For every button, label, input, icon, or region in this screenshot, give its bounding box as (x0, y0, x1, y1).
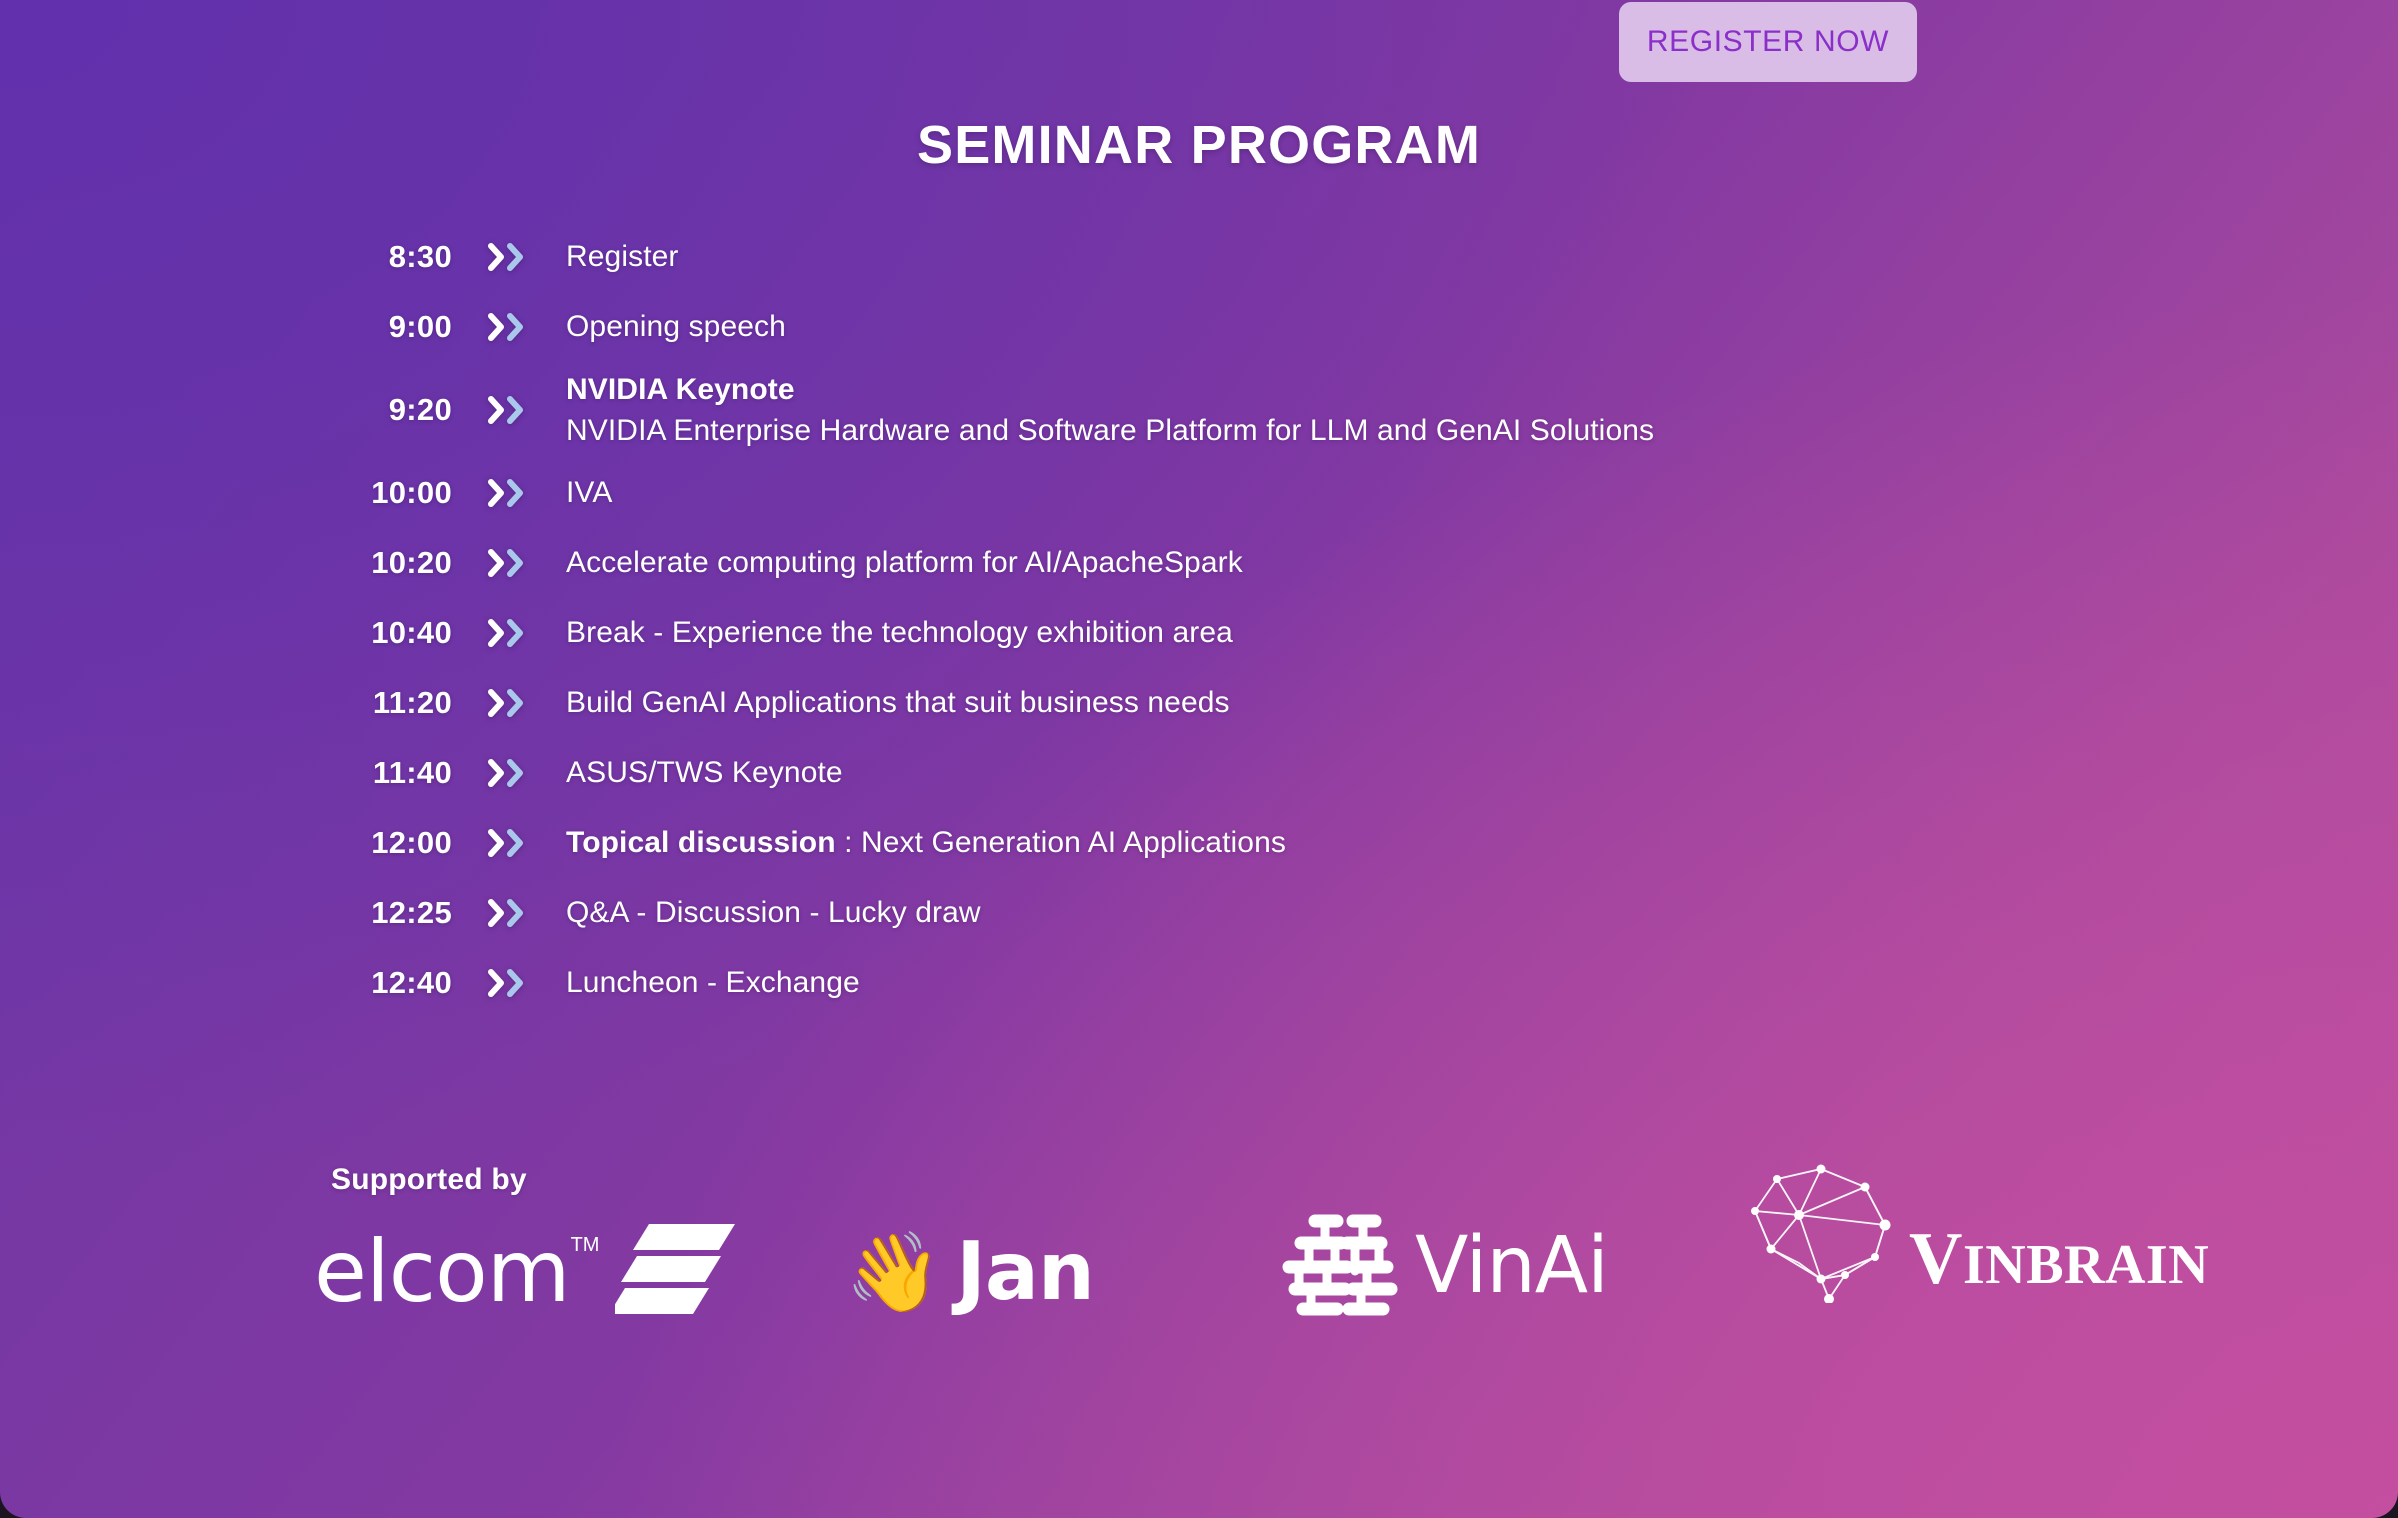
agenda-row: 10:00IVA (330, 458, 2130, 528)
agenda-row-title: NVIDIA Keynote (566, 373, 795, 406)
chevron-right-icon (488, 969, 505, 997)
agenda-row-chevrons (468, 619, 544, 647)
chevron-right-icon (488, 396, 505, 424)
agenda-row-title: Topical discussion (566, 826, 836, 859)
agenda-row-text: Register (566, 236, 679, 277)
agenda-row: 12:40Luncheon - Exchange (330, 948, 2130, 1018)
agenda-row-time: 8:30 (330, 239, 452, 275)
elcom-wordmark-text: elcom (314, 1222, 569, 1322)
sponsor-logo-elcom: elcom TM (314, 1212, 735, 1332)
agenda-row: 10:20Accelerate computing platform for A… (330, 528, 2130, 598)
sponsor-logo-jan: 👋 Jan (845, 1212, 1094, 1332)
agenda-row-description: ASUS/TWS Keynote (566, 756, 843, 789)
chevron-right-icon (488, 759, 505, 787)
seminar-program-slide: REGISTER NOW SEMINAR PROGRAM 8:30Registe… (0, 0, 2398, 1518)
agenda-row-text: Q&A - Discussion - Lucky draw (566, 892, 981, 933)
agenda-row-description: Q&A - Discussion - Lucky draw (566, 896, 981, 929)
agenda-row-chevrons (468, 396, 544, 424)
agenda-row-text: Opening speech (566, 306, 786, 347)
agenda-row: 8:30Register (330, 222, 2130, 292)
vinbrain-wordmark-cap: V (1909, 1218, 1963, 1300)
agenda-row-text: NVIDIA KeynoteNVIDIA Enterprise Hardware… (566, 369, 1654, 452)
agenda-row: 9:00Opening speech (330, 292, 2130, 362)
agenda-row-chevrons (468, 759, 544, 787)
agenda-row: 11:20Build GenAI Applications that suit … (330, 668, 2130, 738)
agenda-row-time: 10:40 (330, 615, 452, 651)
agenda-row-description: Break - Experience the technology exhibi… (566, 616, 1233, 649)
chevron-right-icon (507, 829, 524, 857)
agenda-row-time: 12:40 (330, 965, 452, 1001)
polygonal-brain-icon (1725, 1153, 1925, 1308)
chevron-right-icon (507, 689, 524, 717)
agenda-list: 8:30Register9:00Opening speech9:20NVIDIA… (330, 222, 2130, 1018)
jan-wordmark: Jan (956, 1232, 1094, 1312)
register-now-button[interactable]: REGISTER NOW (1619, 2, 1917, 82)
agenda-row-text: Topical discussion : Next Generation AI … (566, 822, 1286, 863)
chevron-right-icon (488, 479, 505, 507)
vinai-wordmark: VinAi (1415, 1227, 1608, 1305)
agenda-row-time: 9:00 (330, 309, 452, 345)
agenda-row-text: Luncheon - Exchange (566, 962, 860, 1003)
agenda-row-time: 9:20 (330, 392, 452, 428)
chevron-right-icon (507, 549, 524, 577)
elcom-trademark-symbol: TM (571, 1235, 600, 1255)
agenda-row-chevrons (468, 829, 544, 857)
agenda-row-chevrons (468, 689, 544, 717)
waving-hand-icon: 👋 (845, 1233, 942, 1311)
agenda-row-description: Accelerate computing platform for AI/Apa… (566, 546, 1243, 579)
chevron-right-icon (488, 313, 505, 341)
agenda-row-description: NVIDIA Enterprise Hardware and Software … (566, 414, 1654, 447)
agenda-row-description: : Next Generation AI Applications (836, 826, 1286, 859)
agenda-row-text: IVA (566, 472, 612, 513)
page-title: SEMINAR PROGRAM (0, 114, 2398, 176)
chevron-right-icon (507, 759, 524, 787)
agenda-row-description: Build GenAI Applications that suit busin… (566, 686, 1230, 719)
agenda-row-chevrons (468, 479, 544, 507)
chevron-right-icon (507, 313, 524, 341)
supported-by-label: Supported by (331, 1163, 527, 1197)
agenda-row-time: 12:25 (330, 895, 452, 931)
sponsor-logo-vinai: VinAi (1275, 1206, 1608, 1326)
chevron-right-icon (488, 549, 505, 577)
agenda-row: 9:20NVIDIA KeynoteNVIDIA Enterprise Hard… (330, 362, 2130, 458)
agenda-row-text: Build GenAI Applications that suit busin… (566, 682, 1230, 723)
sponsor-logo-vinbrain: VINBRAIN (1725, 1188, 2209, 1308)
agenda-row-chevrons (468, 969, 544, 997)
agenda-row-time: 12:00 (330, 825, 452, 861)
chevron-right-icon (507, 969, 524, 997)
vinbrain-wordmark: VINBRAIN (1909, 1222, 2209, 1296)
chevron-right-icon (488, 829, 505, 857)
elcom-e-mark-icon (615, 1222, 735, 1323)
chevron-right-icon (507, 243, 524, 271)
agenda-row-description: Register (566, 240, 679, 273)
chevron-right-icon (488, 243, 505, 271)
agenda-row-time: 10:00 (330, 475, 452, 511)
agenda-row: 11:40ASUS/TWS Keynote (330, 738, 2130, 808)
agenda-row-description: Luncheon - Exchange (566, 966, 860, 999)
chevron-right-icon (507, 899, 524, 927)
chevron-right-icon (488, 619, 505, 647)
chevron-right-icon (488, 689, 505, 717)
agenda-row-time: 10:20 (330, 545, 452, 581)
chevron-right-icon (507, 619, 524, 647)
chevron-right-icon (488, 899, 505, 927)
sponsor-logos: elcom TM 👋 Jan (300, 1212, 2100, 1332)
vinai-circuit-icon (1275, 1209, 1399, 1324)
agenda-row-chevrons (468, 313, 544, 341)
elcom-wordmark: elcom TM (314, 1229, 569, 1315)
agenda-row-chevrons (468, 243, 544, 271)
agenda-row-text: Accelerate computing platform for AI/Apa… (566, 542, 1243, 583)
vinbrain-wordmark-rest: INBRAIN (1963, 1234, 2209, 1296)
agenda-row-description: Opening speech (566, 310, 786, 343)
agenda-row-text: ASUS/TWS Keynote (566, 752, 843, 793)
agenda-row-chevrons (468, 899, 544, 927)
agenda-row-text: Break - Experience the technology exhibi… (566, 612, 1233, 653)
agenda-row: 10:40Break - Experience the technology e… (330, 598, 2130, 668)
agenda-row-chevrons (468, 549, 544, 577)
agenda-row-description: IVA (566, 476, 612, 509)
agenda-row-time: 11:40 (330, 755, 452, 791)
chevron-right-icon (507, 396, 524, 424)
agenda-row: 12:25Q&A - Discussion - Lucky draw (330, 878, 2130, 948)
agenda-row: 12:00Topical discussion : Next Generatio… (330, 808, 2130, 878)
agenda-row-time: 11:20 (330, 685, 452, 721)
chevron-right-icon (507, 479, 524, 507)
